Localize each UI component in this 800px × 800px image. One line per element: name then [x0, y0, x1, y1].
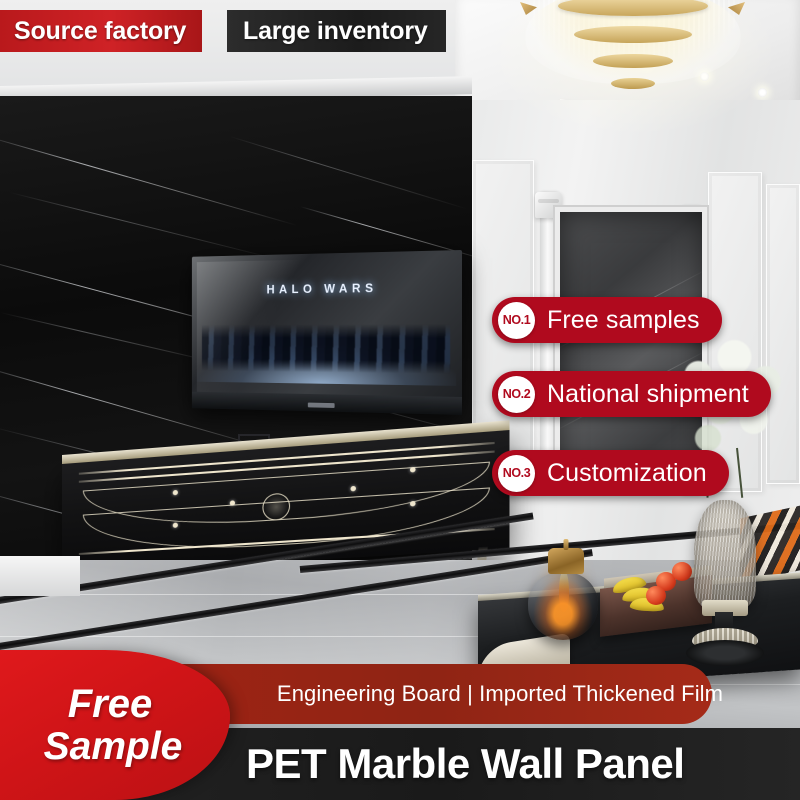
crystal-chandelier [500, 0, 765, 136]
badge-number-circle: NO.1 [498, 302, 535, 339]
tv-screen-title: HALO WARS [197, 279, 456, 297]
banner-large-inventory-label: Large inventory [243, 17, 428, 46]
badge-number-label: NO.2 [503, 387, 531, 401]
tv-bezel: HALO WARS [192, 250, 462, 415]
chandelier-tier [593, 54, 673, 68]
banner-large-inventory: Large inventory [227, 10, 446, 52]
glass-candle-holder [528, 572, 598, 640]
tv-scene-figures [202, 324, 451, 375]
wall-mounted-tv: HALO WARS [192, 250, 462, 415]
badge-number-label: NO.1 [503, 313, 531, 327]
baseboard [0, 556, 80, 596]
banner-source-factory: Source factory [0, 10, 202, 52]
column-capital [535, 192, 562, 218]
banner-source-factory-label: Source factory [14, 17, 186, 46]
product-marketing-image: HALO WARS [0, 0, 800, 800]
free-sample-line2: Sample [44, 726, 183, 767]
apple [672, 562, 692, 581]
marble-vein [0, 134, 297, 226]
decorative-glass-vase [694, 500, 756, 612]
badge-number-label: NO.3 [503, 466, 531, 480]
apple [646, 586, 666, 605]
badge-text-label: National shipment [547, 380, 749, 409]
chandelier-tier [574, 26, 692, 43]
badge-number-circle: NO.2 [498, 376, 535, 413]
free-sample-line1: Free [68, 683, 153, 725]
bottom-caption-zone: Engineering Board | Imported Thickened F… [0, 650, 800, 800]
brass-lid [548, 548, 584, 574]
badge-text-label: Customization [547, 459, 707, 488]
tv-brand-logo [308, 403, 335, 408]
badge-text-label: Free samples [547, 306, 700, 335]
tv-screen: HALO WARS [197, 256, 456, 397]
chandelier-tier [611, 78, 655, 89]
marble-vein [230, 136, 469, 210]
feature-badge-3: NO.3 Customization [492, 450, 729, 496]
product-title-label: PET Marble Wall Panel [246, 740, 684, 788]
marble-vein [10, 192, 282, 261]
badge-number-circle: NO.3 [498, 455, 535, 492]
feature-badge-2: NO.2 National shipment [492, 371, 771, 417]
feature-badge-1: NO.1 Free samples [492, 297, 722, 343]
